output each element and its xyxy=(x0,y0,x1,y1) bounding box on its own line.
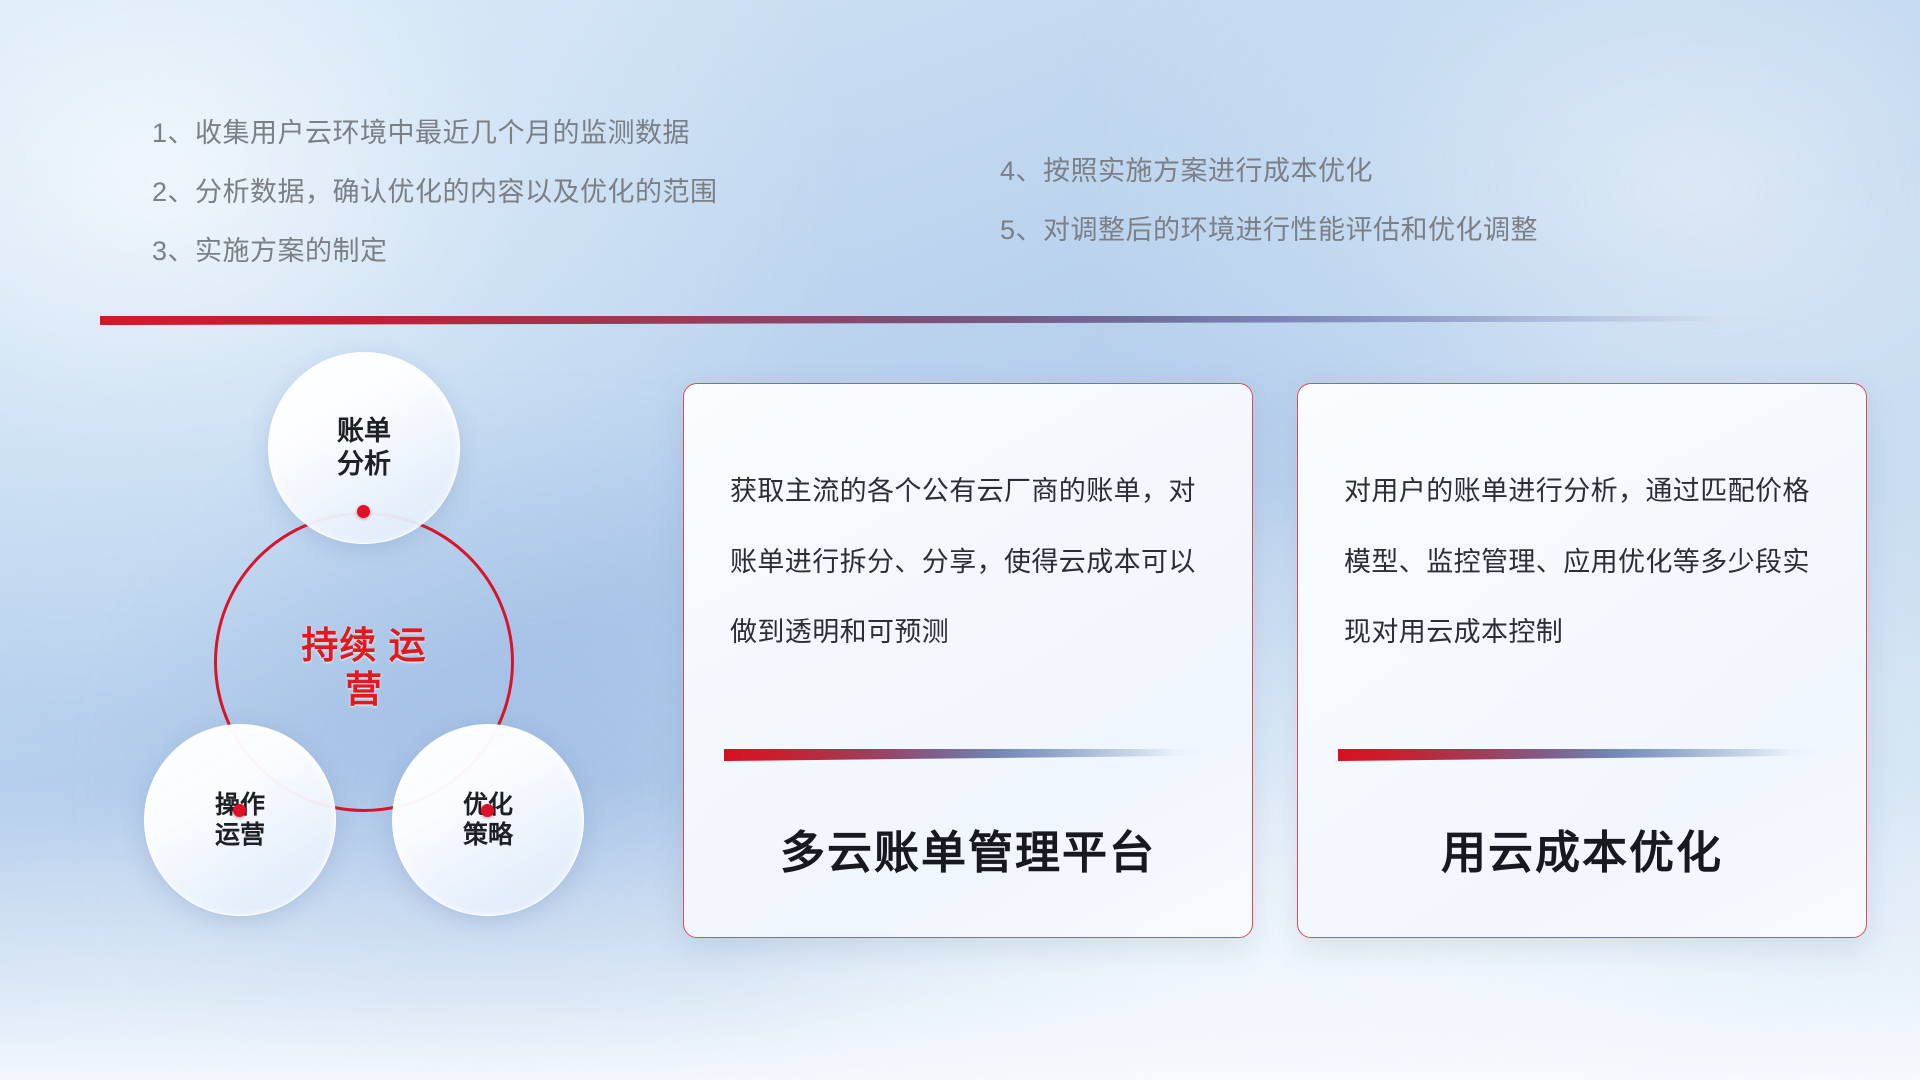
card-2-title: 用云成本优化 xyxy=(1298,816,1866,881)
card-2-divider-bar xyxy=(1338,749,1824,761)
section-divider-rule xyxy=(100,316,1840,325)
steps-list-left: 1、收集用户云环境中最近几个月的监测数据 2、分析数据，确认优化的内容以及优化的… xyxy=(152,120,718,265)
step-item-4: 4、按照实施方案进行成本优化 xyxy=(1000,158,1538,185)
step-item-1: 1、收集用户云环境中最近几个月的监测数据 xyxy=(152,120,718,147)
diagram-center-label: 持续 运营 xyxy=(294,624,434,711)
section-divider-bar xyxy=(100,316,1840,325)
step-item-2: 2、分析数据，确认优化的内容以及优化的范围 xyxy=(152,179,718,206)
step-item-3: 3、实施方案的制定 xyxy=(152,238,718,265)
bubble-bl-line-2: 运营 xyxy=(215,820,265,851)
diagram-node-dot-right xyxy=(481,804,494,817)
info-card-cloud-cost-optimization[interactable]: 对用户的账单进行分析，通过匹配价格模型、监控管理、应用优化等多少段实现对用云成本… xyxy=(1297,383,1867,938)
card-1-title: 多云账单管理平台 xyxy=(684,816,1252,881)
card-1-divider-bar xyxy=(724,749,1210,761)
step-item-5: 5、对调整后的环境进行性能评估和优化调整 xyxy=(1000,217,1538,244)
bubble-top-line-2: 分析 xyxy=(337,448,391,481)
diagram-node-dot-top xyxy=(357,505,370,518)
slide-canvas: 1、收集用户云环境中最近几个月的监测数据 2、分析数据，确认优化的内容以及优化的… xyxy=(0,0,1920,1080)
bubble-br-line-2: 策略 xyxy=(463,820,513,851)
steps-list-right: 4、按照实施方案进行成本优化 5、对调整后的环境进行性能评估和优化调整 xyxy=(1000,158,1538,244)
card-1-divider xyxy=(724,749,1210,761)
diagram-bubble-operations[interactable]: 操作 运营 xyxy=(144,724,336,916)
card-2-body: 对用户的账单进行分析，通过匹配价格模型、监控管理、应用优化等多少段实现对用云成本… xyxy=(1344,456,1826,668)
venn-diagram: 持续 运营 账单 分析 操作 运营 优化 策略 xyxy=(96,352,626,932)
diagram-node-dot-left xyxy=(233,804,246,817)
info-card-multicloud-billing[interactable]: 获取主流的各个公有云厂商的账单，对账单进行拆分、分享，使得云成本可以做到透明和可… xyxy=(683,383,1253,938)
bubble-top-line-1: 账单 xyxy=(337,415,391,448)
card-1-body: 获取主流的各个公有云厂商的账单，对账单进行拆分、分享，使得云成本可以做到透明和可… xyxy=(730,456,1212,668)
diagram-bubble-optimization-strategy[interactable]: 优化 策略 xyxy=(392,724,584,916)
card-2-divider xyxy=(1338,749,1824,761)
center-label-line-1: 持续 xyxy=(301,625,377,666)
